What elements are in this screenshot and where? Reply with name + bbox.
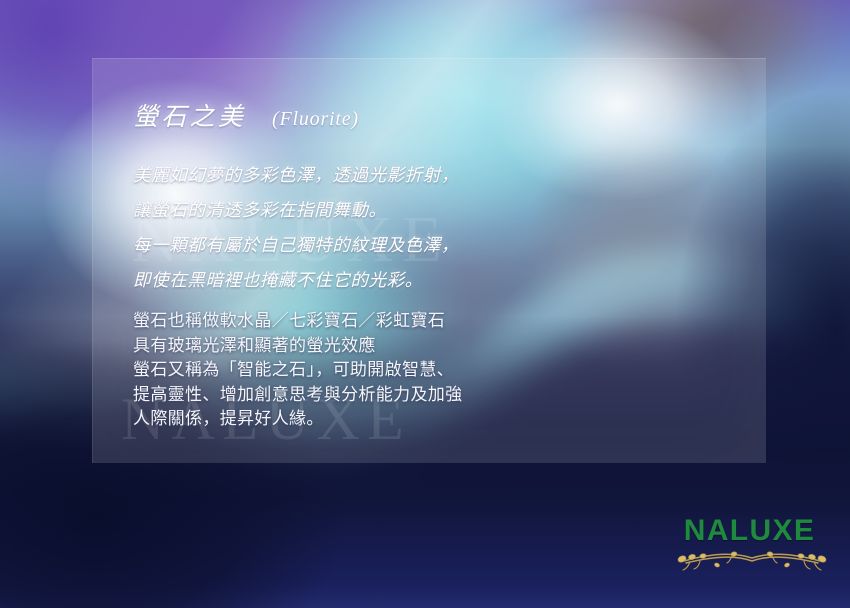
intro-line: 即使在黑暗裡也掩藏不住它的光彩。 <box>133 264 733 299</box>
intro-line: 每一顆都有屬於自己獨特的紋理及色澤， <box>133 229 733 264</box>
title-english: (Fluorite) <box>272 108 359 131</box>
detail-line: 具有玻璃光澤和顯著的螢光效應 <box>133 334 733 359</box>
title-chinese: 螢石之美 <box>133 97 246 133</box>
detail-line: 螢石也稱做軟水晶／七彩寶石／彩虹寶石 <box>133 309 733 334</box>
content-panel: NALUXE NALUXE 螢石之美 (Fluorite) 美麗如幻夢的多彩色澤… <box>92 58 766 463</box>
detail-line: 人際關係，提昇好人緣。 <box>133 407 733 432</box>
brand-wordmark: NALUXE <box>672 516 827 546</box>
vine-flourish-ornament <box>672 550 832 576</box>
intro-paragraph: 美麗如幻夢的多彩色澤，透過光影折射， 讓螢石的清透多彩在指間舞動。 每一顆都有屬… <box>133 159 733 299</box>
slide-title: 螢石之美 (Fluorite) <box>133 97 359 133</box>
detail-line: 螢石又稱為「智能之石」，可助開啟智慧、 <box>133 358 733 383</box>
intro-line: 美麗如幻夢的多彩色澤，透過光影折射， <box>133 159 733 194</box>
intro-line: 讓螢石的清透多彩在指間舞動。 <box>133 194 733 229</box>
detail-line: 提高靈性、增加創意思考與分析能力及加強 <box>133 383 733 408</box>
detail-paragraph: 螢石也稱做軟水晶／七彩寶石／彩虹寶石 具有玻璃光澤和顯著的螢光效應 螢石又稱為「… <box>133 309 733 432</box>
panel-text-container: 螢石之美 (Fluorite) 美麗如幻夢的多彩色澤，透過光影折射， 讓螢石的清… <box>93 59 766 463</box>
brand-logo: NALUXE <box>672 516 827 580</box>
slide-canvas: NALUXE NALUXE 螢石之美 (Fluorite) 美麗如幻夢的多彩色澤… <box>0 0 850 608</box>
